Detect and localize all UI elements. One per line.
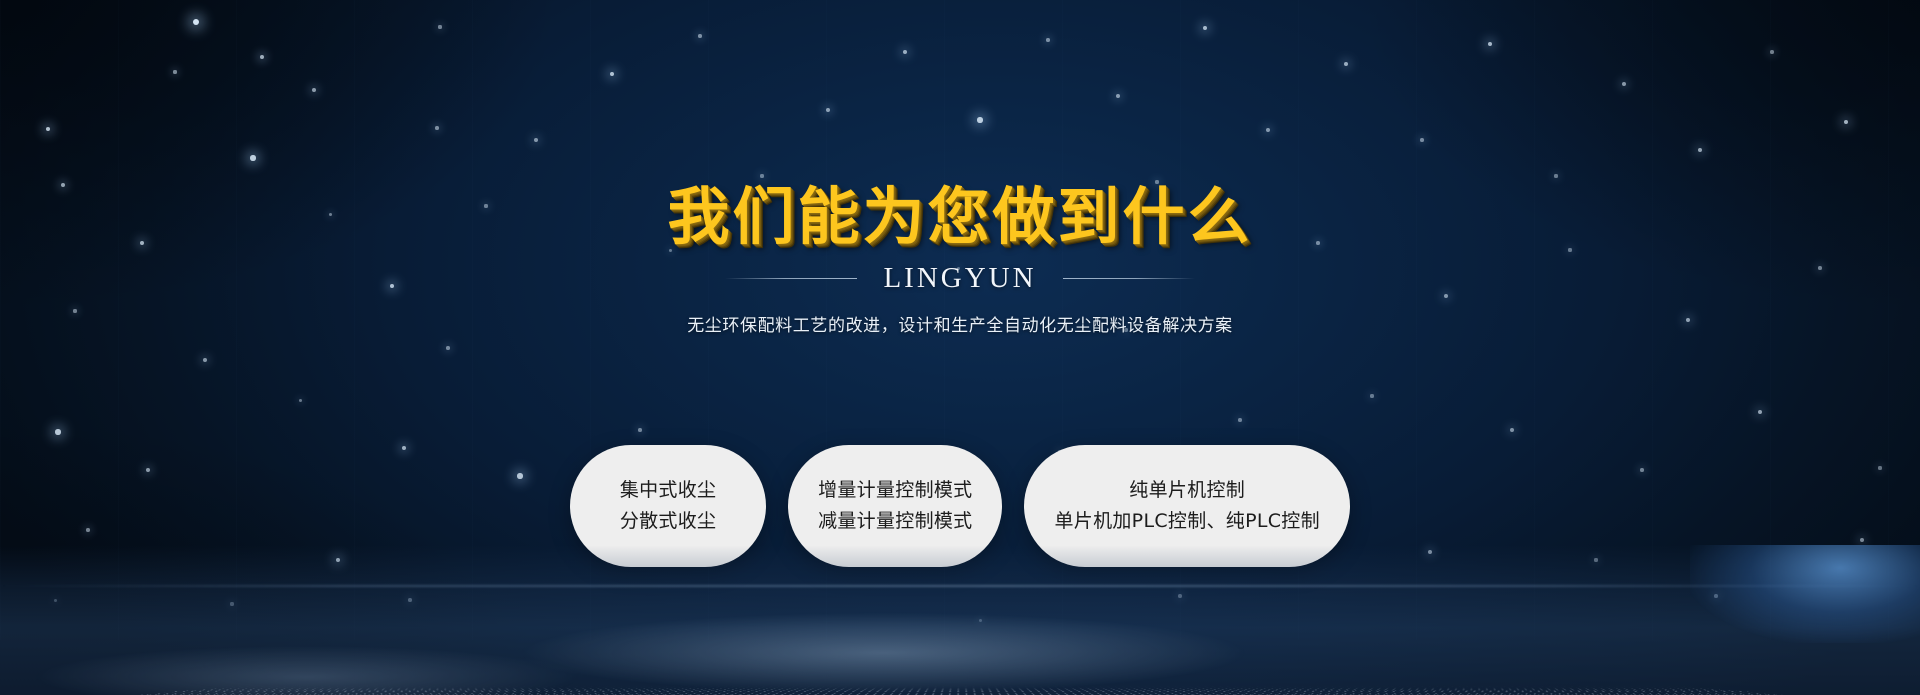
star-particle [1203,26,1208,31]
star-particle [698,34,702,38]
star-particle [203,358,207,362]
star-particle [1510,428,1514,432]
headline-block: 我们能为您做到什么 [0,186,1920,248]
card-line-primary: 纯单片机控制 [1129,480,1245,502]
star-particle [1698,148,1702,152]
star-particle [299,399,302,402]
star-particle [903,50,907,54]
star-particle [1554,174,1557,177]
star-particle [977,117,982,122]
star-particle [1488,42,1493,47]
divider-left [725,278,857,279]
star-particle [610,72,615,77]
card-line-secondary: 减量计量控制模式 [818,511,972,533]
star-particle [1444,294,1448,298]
star-particle [1770,50,1774,54]
card-line-primary: 增量计量控制模式 [818,480,972,502]
star-particle [250,155,255,160]
star-particle [1266,128,1270,132]
star-particle [1370,394,1373,397]
star-particle [1844,120,1849,125]
star-particle [438,25,441,28]
star-particle [193,19,199,25]
star-particle [826,108,830,112]
star-particle [1622,82,1626,86]
star-particle [55,429,60,434]
star-particle [46,127,51,132]
star-particle [1116,94,1120,98]
star-particle [446,346,450,350]
star-particle [173,70,176,73]
wave-horizon-line [0,585,1920,587]
brand-subtitle-row: LINGYUN [0,264,1920,293]
hero-banner: 我们能为您做到什么 LINGYUN 无尘环保配料工艺的改进，设计和生产全自动化无… [0,0,1920,695]
star-particle [1344,62,1348,66]
wave-mesh-front [0,686,1920,695]
star-particle [312,88,316,92]
star-particle [1568,248,1571,251]
divider-right [1063,278,1195,279]
bottom-wave-mesh [0,545,1920,695]
banner-description: 无尘环保配料工艺的改进，设计和生产全自动化无尘配料设备解决方案 [0,311,1920,336]
star-particle [1046,38,1050,42]
brand-name: LINGYUN [883,264,1036,293]
card-line-primary: 集中式收尘 [620,480,717,502]
card-line-secondary: 分散式收尘 [620,511,717,533]
star-particle [1758,410,1762,414]
star-particle [260,55,264,59]
star-particle [1238,418,1242,422]
card-line-secondary: 单片机加PLC控制、纯PLC控制 [1054,511,1319,533]
star-particle [534,138,538,142]
star-particle [435,126,439,130]
wave-haze [0,545,1920,695]
star-particle [638,428,642,432]
star-particle [760,174,763,177]
page-title: 我们能为您做到什么 [0,186,1920,248]
star-particle [1420,138,1424,142]
